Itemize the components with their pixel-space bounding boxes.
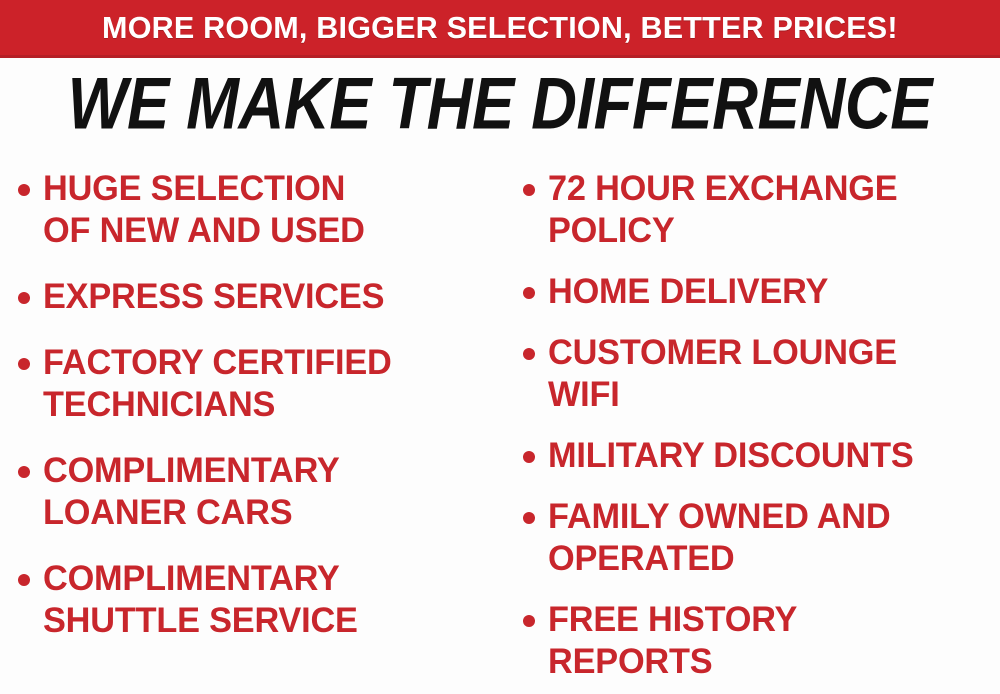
list-item-label: EXPRESS SERVICES (43, 276, 384, 318)
promo-banner: MORE ROOM, BIGGER SELECTION, BETTER PRIC… (0, 0, 1000, 58)
list-item-label: HOME DELIVERY (548, 271, 828, 313)
bullet-dot-icon (523, 615, 535, 627)
list-item-label: FACTORY CERTIFIED TECHNICIANS (43, 342, 392, 426)
bullet-dot-icon (523, 348, 535, 360)
promo-banner-text: MORE ROOM, BIGGER SELECTION, BETTER PRIC… (102, 12, 898, 43)
bullet-dot-icon (18, 184, 30, 196)
list-item: HUGE SELECTION OF NEW AND USED (18, 168, 505, 252)
list-item: HOME DELIVERY (523, 271, 1000, 313)
bullet-dot-icon (18, 292, 30, 304)
list-item: CUSTOMER LOUNGE WIFI (523, 332, 1000, 416)
features-columns: HUGE SELECTION OF NEW AND USED EXPRESS S… (0, 152, 1000, 694)
list-item-label: HUGE SELECTION OF NEW AND USED (43, 168, 365, 252)
bullet-dot-icon (18, 466, 30, 478)
features-column-right: 72 HOUR EXCHANGE POLICY HOME DELIVERY CU… (505, 152, 1000, 694)
headline-container: WE MAKE THE DIFFERENCE (0, 62, 1000, 144)
bullet-dot-icon (18, 574, 30, 586)
bullet-dot-icon (523, 184, 535, 196)
page-title: WE MAKE THE DIFFERENCE (68, 66, 932, 139)
advertisement-banner: MORE ROOM, BIGGER SELECTION, BETTER PRIC… (0, 0, 1000, 694)
list-item-label: MILITARY DISCOUNTS (548, 435, 914, 477)
list-item-label: FAMILY OWNED AND OPERATED (548, 496, 890, 580)
list-item: MILITARY DISCOUNTS (523, 435, 1000, 477)
bullet-dot-icon (523, 512, 535, 524)
list-item: COMPLIMENTARY LOANER CARS (18, 450, 505, 534)
list-item: COMPLIMENTARY SHUTTLE SERVICE (18, 558, 505, 642)
bullet-dot-icon (18, 358, 30, 370)
list-item: 72 HOUR EXCHANGE POLICY (523, 168, 1000, 252)
list-item: FACTORY CERTIFIED TECHNICIANS (18, 342, 505, 426)
list-item: EXPRESS SERVICES (18, 276, 505, 318)
features-column-left: HUGE SELECTION OF NEW AND USED EXPRESS S… (0, 152, 505, 694)
list-item: FREE HISTORY REPORTS (523, 599, 1000, 683)
list-item-label: CUSTOMER LOUNGE WIFI (548, 332, 897, 416)
list-item-label: COMPLIMENTARY LOANER CARS (43, 450, 340, 534)
list-item-label: COMPLIMENTARY SHUTTLE SERVICE (43, 558, 358, 642)
list-item-label: FREE HISTORY REPORTS (548, 599, 797, 683)
bullet-dot-icon (523, 287, 535, 299)
bullet-dot-icon (523, 451, 535, 463)
list-item: FAMILY OWNED AND OPERATED (523, 496, 1000, 580)
list-item-label: 72 HOUR EXCHANGE POLICY (548, 168, 897, 252)
